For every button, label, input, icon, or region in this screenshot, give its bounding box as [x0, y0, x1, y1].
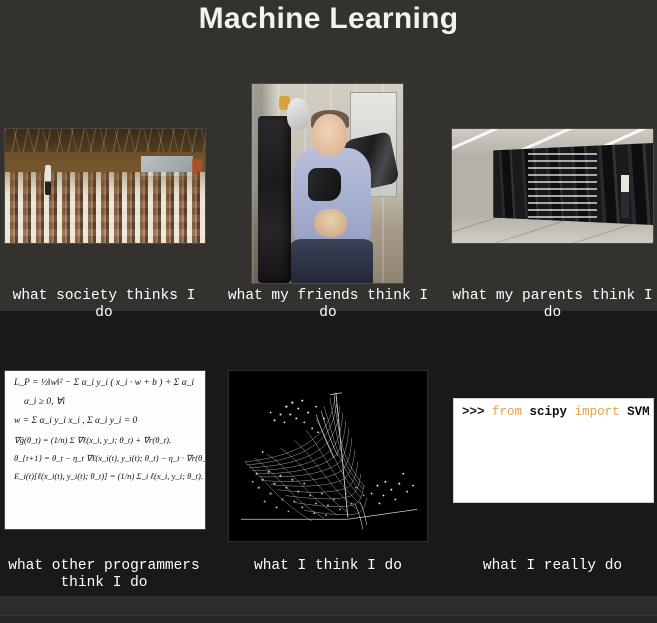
svm-equations-image: L_P = ½‖w‖² − Σ α_i y_i ( x_i · w + b ) … [4, 370, 206, 530]
equation-line: θ_{t+1} = θ_t − η_t ∇ℓ(x_i(t), y_i(t); θ… [14, 454, 196, 463]
equation-line: α_i ≥ 0, ∀i [24, 398, 196, 408]
wireframe-surface-svg [229, 371, 427, 541]
panel-i-really-do: >>> from scipy import SVM what I really … [448, 366, 657, 596]
code-line: >>> from scipy import SVM [454, 399, 653, 502]
meme-image: Machine Learning what society thinks I d… [0, 0, 657, 623]
caption-friends: what my friends think I do [218, 288, 438, 322]
panel-society: what society thinks I do [0, 120, 208, 310]
keyword-from: from [492, 405, 522, 419]
equation-line: L_P = ½‖w‖² − Σ α_i y_i ( x_i · w + b ) … [14, 379, 196, 389]
panel-other-programmers: L_P = ½‖w‖² − Σ α_i y_i ( x_i · w + b ) … [0, 366, 208, 596]
3d-wireframe-surface-plot [228, 370, 428, 542]
equation-line: ∇ĝ(θ_t) = (1/n) Σ ∇ℓ(x_i, y_i; θ_t) + ∇r… [14, 436, 196, 445]
equation-line: E_i(t)[ℓ(x_i(t), y_i(t); θ_t)] = (1/n) Σ… [14, 472, 196, 481]
keyword-import: import [575, 405, 620, 419]
python-console-screenshot: >>> from scipy import SVM [453, 398, 654, 503]
caption-parents: what my parents think I do [448, 288, 657, 322]
server-room-supercomputer-photo [451, 128, 654, 244]
panel-i-think: what I think I do [218, 366, 438, 596]
panel-friends: what my friends think I do [218, 70, 438, 310]
page-title: Machine Learning [0, 2, 657, 36]
lecture-hall-audience-photo [4, 128, 206, 244]
man-with-robot-arm-photo [251, 83, 404, 284]
python-prompt: >>> [462, 405, 492, 419]
module-scipy: scipy [530, 405, 568, 419]
caption-i-think: what I think I do [218, 558, 438, 575]
panel-parents: what my parents think I do [448, 120, 657, 310]
caption-other-programmers: what other programmers think I do [0, 558, 208, 592]
equation-line: w = Σ α_i y_i x_i , Σ α_i y_i = 0 [14, 417, 196, 427]
caption-society: what society thinks I do [0, 288, 208, 322]
footer-divider [0, 615, 657, 623]
caption-i-really-do: what I really do [448, 558, 657, 575]
symbol-svm: SVM [627, 405, 650, 419]
